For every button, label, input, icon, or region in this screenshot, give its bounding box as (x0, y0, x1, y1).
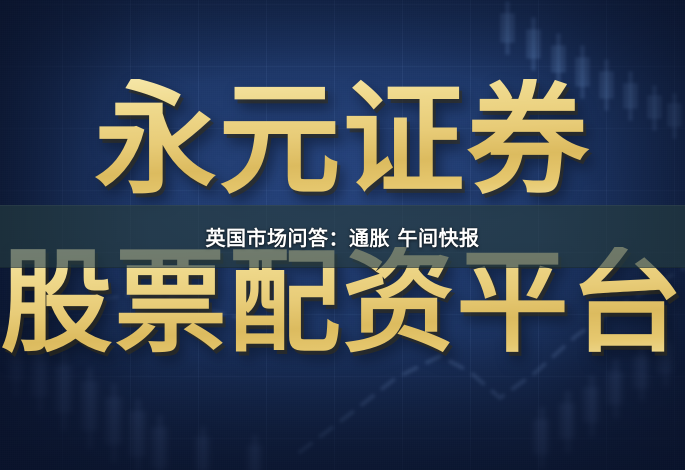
overlay-title-band: 英国市场问答：通胀 午间快报 (0, 205, 685, 268)
brand-headline-line-1-text: 永元证券 (95, 79, 591, 201)
overlay-title-text: 英国市场问答：通胀 午间快报 (206, 222, 480, 251)
brand-headline-line-1: 永元证券 (0, 79, 685, 201)
banner-image: 永元证券 股票配资平台 英国市场问答：通胀 午间快报 (0, 0, 685, 470)
